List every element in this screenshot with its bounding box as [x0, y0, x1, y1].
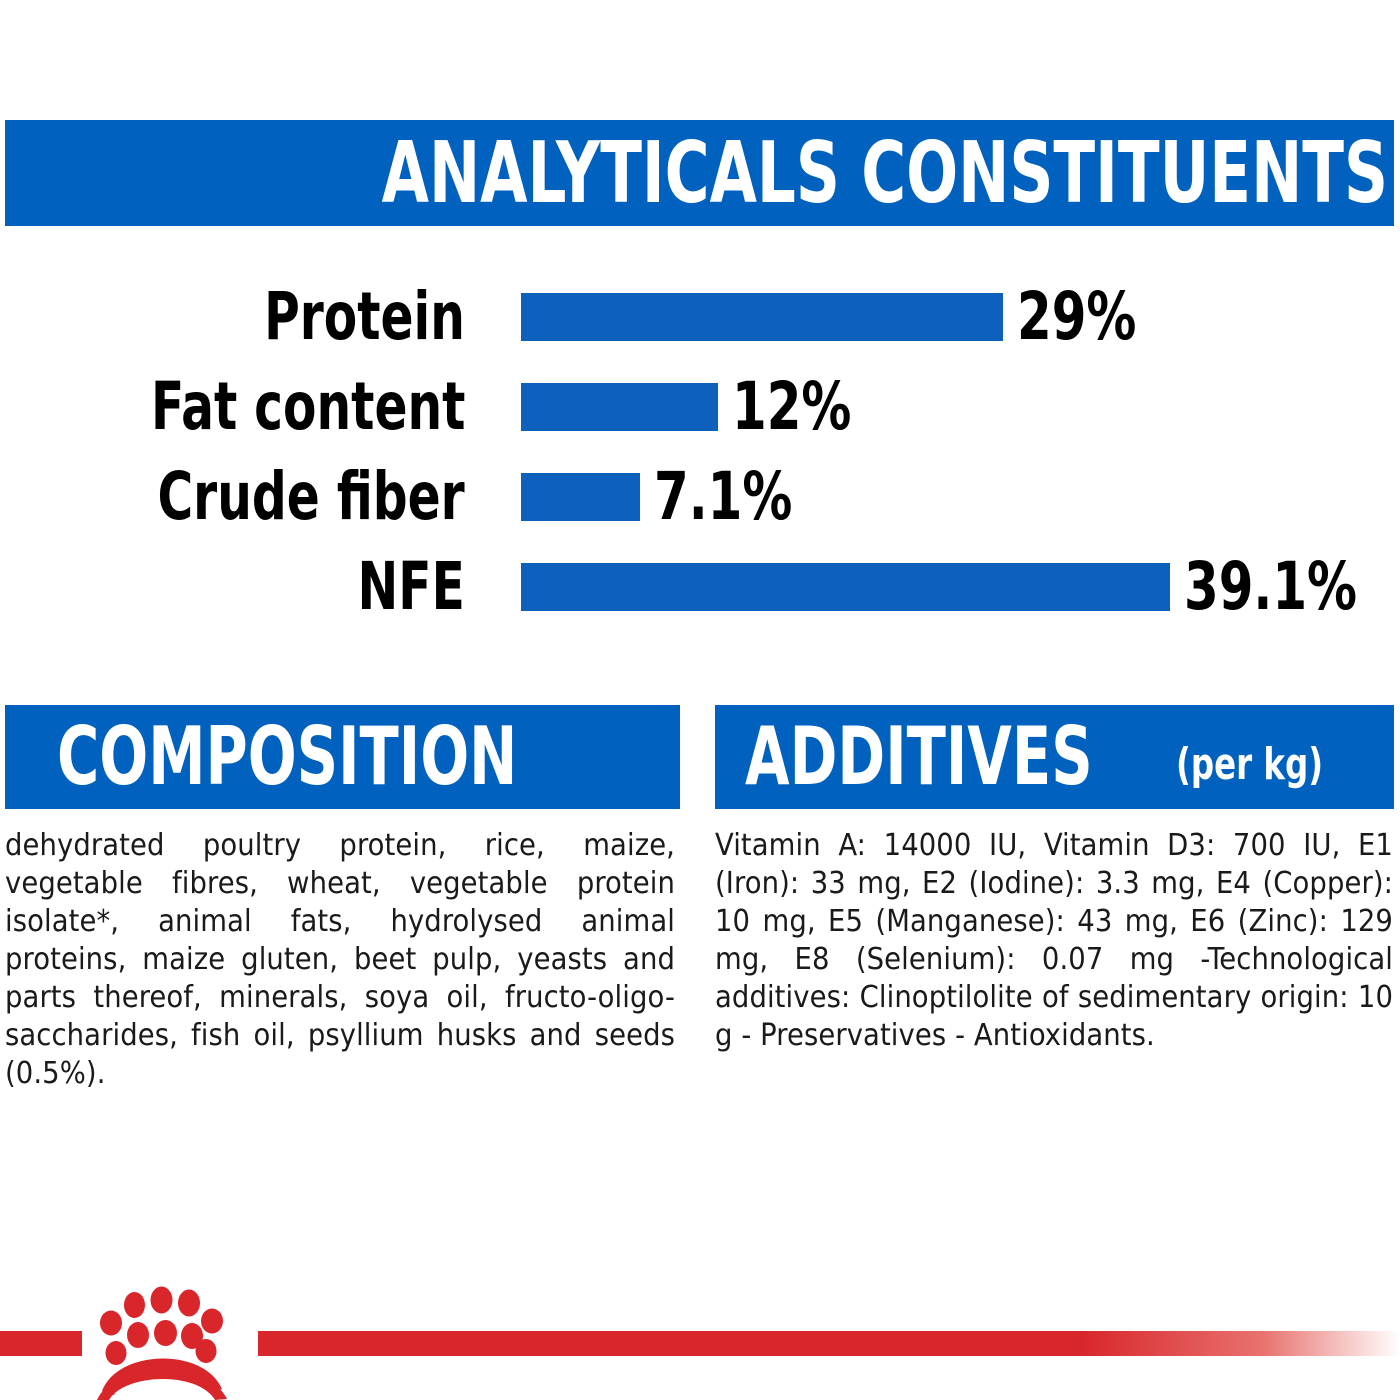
bar-value-nfe: 39.1%: [1184, 554, 1357, 620]
bar-label-protein: Protein: [264, 284, 465, 350]
bar-fill-protein: [521, 293, 1003, 341]
table-row: Fat content 12%: [0, 362, 1400, 452]
nutrition-label-page: ANALYTICALS CONSTITUENTS Protein 29% Fat…: [0, 0, 1400, 1400]
additives-title: ADDITIVES: [745, 717, 1093, 797]
table-row: NFE 39.1%: [0, 542, 1400, 632]
bar-label-fat-content: Fat content: [151, 374, 465, 440]
bar-value-crude-fiber: 7.1%: [654, 464, 792, 530]
footer-red-band-right: [258, 1331, 1400, 1356]
royal-canin-crown-icon: [72, 1283, 267, 1400]
bar-track-fat-content: 12%: [521, 383, 874, 431]
analyticals-bar-chart: Protein 29% Fat content 12% Crude fiber …: [0, 272, 1400, 642]
table-row: Crude fiber 7.1%: [0, 452, 1400, 542]
table-row: Protein 29%: [0, 272, 1400, 362]
bar-label-crude-fiber: Crude fiber: [158, 464, 465, 530]
footer-brand-bar: [0, 1283, 1400, 1400]
composition-text-block: dehydrated poultry protein, rice, maize,…: [5, 827, 675, 1093]
analyticals-constituents-banner: ANALYTICALS CONSTITUENTS: [5, 120, 1394, 226]
additives-per-kg-suffix: (per kg): [1176, 743, 1323, 787]
composition-text: dehydrated poultry protein, rice, maize,…: [5, 827, 675, 1093]
bar-fill-crude-fiber: [521, 473, 640, 521]
additives-banner: ADDITIVES (per kg): [715, 705, 1394, 809]
bar-fill-nfe: [521, 563, 1170, 611]
composition-banner: COMPOSITION: [5, 705, 680, 809]
bar-fill-fat-content: [521, 383, 718, 431]
bar-value-fat-content: 12%: [732, 374, 851, 440]
bar-track-crude-fiber: 7.1%: [521, 473, 819, 521]
additives-text-block: Vitamin A: 14000 IU, Vitamin D3: 700 IU,…: [715, 827, 1393, 1055]
composition-title: COMPOSITION: [57, 717, 517, 797]
bar-label-nfe: NFE: [358, 554, 465, 620]
bar-track-protein: 29%: [521, 293, 1159, 341]
analyticals-constituents-title: ANALYTICALS CONSTITUENTS: [382, 131, 1388, 216]
footer-red-band-left: [0, 1331, 82, 1356]
bar-value-protein: 29%: [1017, 284, 1136, 350]
additives-text: Vitamin A: 14000 IU, Vitamin D3: 700 IU,…: [715, 827, 1393, 1055]
bar-track-nfe: 39.1%: [521, 563, 1390, 611]
